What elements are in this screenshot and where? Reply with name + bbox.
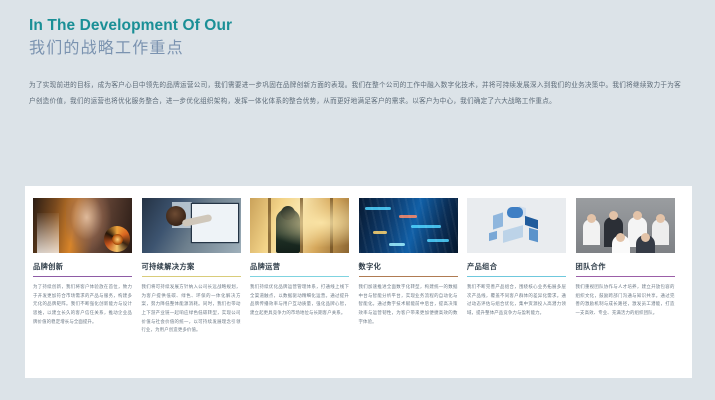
- card-body: 为了持续创新，我们将客户体验放在首位，致力于开发更加符合市场需求的产品与服务，构…: [33, 283, 132, 326]
- card-underline: [33, 276, 132, 277]
- team-collaboration-photo: [576, 198, 675, 253]
- card-brand-operation[interactable]: 品牌运营 我们持续优化品牌运营管理体系，打通线上线下全渠道触点，以数据驱动精细化…: [250, 198, 349, 335]
- card-brand-innovation[interactable]: 品牌创新 为了持续创新，我们将客户体验放在首位，致力于开发更加符合市场需求的产品…: [33, 198, 132, 335]
- cards-panel: 品牌创新 为了持续创新，我们将客户体验放在首位，致力于开发更加符合市场需求的产品…: [25, 186, 692, 378]
- card-underline: [576, 276, 675, 277]
- card-title: 可持续解决方案: [142, 262, 241, 272]
- card-product-portfolio[interactable]: 产品组合 我们不断完善产品组合，围绕核心业务拓展多层次产品线，覆盖不同客户群体的…: [467, 198, 566, 335]
- digitalization-photo: [359, 198, 458, 253]
- card-underline: [250, 276, 349, 277]
- card-body: 我们加速推进全面数字化转型，构建统一的数据中台与智能分析平台，实现业务流程的自动…: [359, 283, 458, 326]
- cards-row: 品牌创新 为了持续创新，我们将客户体验放在首位，致力于开发更加符合市场需求的产品…: [33, 198, 675, 335]
- card-underline: [142, 276, 241, 277]
- brand-innovation-photo: [33, 198, 132, 253]
- card-title: 产品组合: [467, 262, 566, 272]
- card-sustainable-solutions[interactable]: 可持续解决方案 我们将可持续发展方针纳入公司长远战略规划，为客户提供低碳、绿色、…: [142, 198, 241, 335]
- card-body: 我们不断完善产品组合，围绕核心业务拓展多层次产品线，覆盖不同客户群体的差异化需求…: [467, 283, 566, 317]
- page-title-en: In The Development Of Our: [29, 16, 669, 36]
- card-underline: [467, 276, 566, 277]
- card-title: 品牌创新: [33, 262, 132, 272]
- card-body: 我们重视团队协作与人才培养，建立开放包容的组织文化，鼓励跨部门沟通与知识共享。通…: [576, 283, 675, 317]
- card-digitalization[interactable]: 数字化 我们加速推进全面数字化转型，构建统一的数据中台与智能分析平台，实现业务流…: [359, 198, 458, 335]
- card-title: 数字化: [359, 262, 458, 272]
- slide-root: In The Development Of Our 我们的战略工作重点 为了实现…: [0, 0, 715, 400]
- card-body: 我们持续优化品牌运营管理体系，打通线上线下全渠道触点，以数据驱动精细化运营。通过…: [250, 283, 349, 317]
- card-underline: [359, 276, 458, 277]
- lead-paragraph: 为了实现前进的目标，成为客户心目中领先的品牌运营公司，我们需要进一步巩固在品牌创…: [29, 78, 681, 109]
- product-portfolio-illustration: [467, 198, 566, 253]
- header-block: In The Development Of Our 我们的战略工作重点: [29, 16, 669, 60]
- card-title: 团队合作: [576, 262, 675, 272]
- sustainable-solutions-photo: [142, 198, 241, 253]
- brand-operation-photo: [250, 198, 349, 253]
- page-title-cn: 我们的战略工作重点: [29, 38, 669, 60]
- card-body: 我们将可持续发展方针纳入公司长远战略规划，为客户提供低碳、绿色、环保的一体化解决…: [142, 283, 241, 335]
- card-title: 品牌运营: [250, 262, 349, 272]
- card-team-collaboration[interactable]: 团队合作 我们重视团队协作与人才培养，建立开放包容的组织文化，鼓励跨部门沟通与知…: [576, 198, 675, 335]
